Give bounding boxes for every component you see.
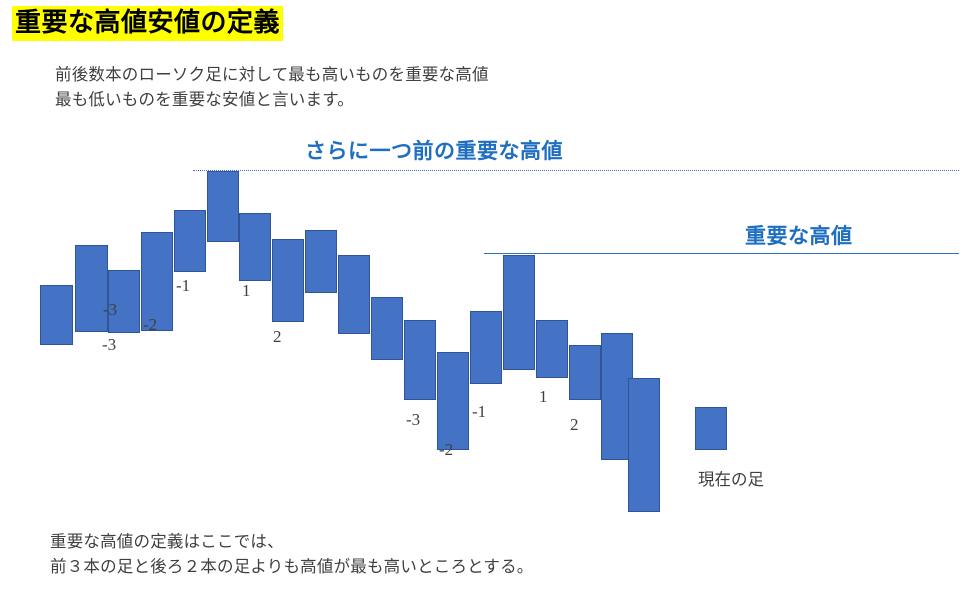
bar-label-minus1: -1: [472, 402, 486, 422]
candle-bar: [272, 239, 304, 322]
candle-bar-swing-high: [207, 171, 239, 242]
bar-label-plus1: 1: [539, 387, 548, 407]
bar-label-plus2: 2: [273, 327, 282, 347]
bar-label-minus1: -1: [176, 276, 190, 296]
candle-bar: [536, 320, 568, 378]
candle-bar-swing-high: [503, 255, 535, 370]
bar-label-minus3: -3: [102, 335, 116, 355]
candle-bar: [371, 297, 403, 360]
annotation-prev-swing-high: さらに一つ前の重要な高値: [305, 135, 563, 165]
bar-label-minus3-inside: -3: [103, 300, 117, 320]
candle-bar: [305, 230, 337, 293]
candle-bar: [338, 255, 370, 334]
footer-paragraph: 重要な高値の定義はここでは、 前３本の足と後ろ２本の足よりも高値が最も高いところ…: [50, 530, 533, 580]
bar-label-plus2: 2: [570, 415, 579, 435]
candle-bar: [628, 378, 660, 512]
candle-bar: [569, 345, 601, 400]
bar-label-plus1: 1: [242, 281, 251, 301]
annotation-swing-high: 重要な高値: [745, 220, 853, 250]
candle-bar: [470, 311, 502, 384]
bar-label-minus2: -2: [439, 440, 453, 460]
candle-bar: [174, 210, 206, 272]
reference-line-swing-high: [484, 253, 959, 254]
current-candle-caption: 現在の足: [698, 466, 764, 490]
reference-line-prev-swing-high: [193, 170, 959, 171]
bar-label-minus2: -2: [143, 315, 157, 335]
candle-bar: [404, 320, 436, 400]
bar-label-minus3: -3: [406, 410, 420, 430]
candlestick-diagram: さらに一つ前の重要な高値 重要な高値 -3 -3 -2 -1 1 2 -3 -2: [0, 0, 971, 606]
candle-bar: [239, 213, 271, 281]
candle-bar-current: [695, 407, 727, 450]
candle-bar: [437, 352, 469, 450]
slide-canvas: 重要な高値安値の定義 前後数本のローソク足に対して最も高いものを重要な高値 最も…: [0, 0, 971, 606]
candle-bar: [40, 285, 73, 345]
